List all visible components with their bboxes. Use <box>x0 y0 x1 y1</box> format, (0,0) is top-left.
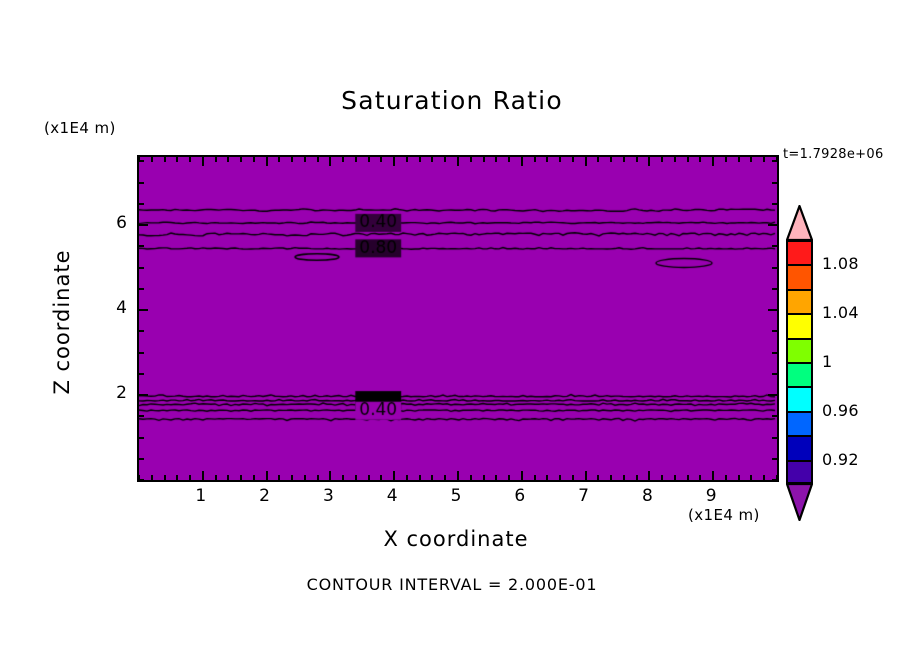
x-tick <box>380 475 382 480</box>
x-tick <box>266 471 268 480</box>
x-tick <box>585 471 587 480</box>
time-annotation: t=1.7928e+06 <box>783 147 884 162</box>
x-tick <box>215 475 217 480</box>
y-axis-unit-label: (x1E4 m) <box>44 119 116 137</box>
x-tick <box>750 475 752 480</box>
x-tick <box>317 157 319 162</box>
x-tick <box>495 475 497 480</box>
x-tick-label: 9 <box>691 486 731 506</box>
y-tick <box>139 224 148 226</box>
x-tick <box>253 475 255 480</box>
x-tick <box>329 157 331 166</box>
x-tick <box>610 475 612 480</box>
x-tick <box>572 475 574 480</box>
x-tick <box>687 475 689 480</box>
x-tick <box>738 157 740 162</box>
y-tick <box>139 479 144 481</box>
x-tick <box>355 157 357 162</box>
x-axis-title: X coordinate <box>137 527 775 551</box>
x-tick-label: 8 <box>627 486 667 506</box>
x-tick <box>712 157 714 166</box>
page-title: Saturation Ratio <box>0 86 904 115</box>
y-tick <box>139 203 144 205</box>
x-tick <box>546 157 548 162</box>
colorbar-under-arrow-icon <box>786 483 813 521</box>
y-tick-label: 2 <box>97 383 127 403</box>
y-tick <box>772 458 777 460</box>
x-tick <box>215 157 217 162</box>
colorbar-band <box>788 437 811 461</box>
x-tick <box>227 475 229 480</box>
y-tick <box>772 245 777 247</box>
x-tick-label: 7 <box>564 486 604 506</box>
y-tick <box>772 160 777 162</box>
contour-plot-figure: Saturation Ratio (x1E4 m) t=1.7928e+06 1… <box>0 0 904 654</box>
y-tick <box>139 415 144 417</box>
x-tick-label: 1 <box>181 486 221 506</box>
x-tick <box>699 475 701 480</box>
x-tick <box>470 475 472 480</box>
x-tick <box>227 157 229 162</box>
x-tick <box>712 471 714 480</box>
x-tick <box>291 157 293 162</box>
x-tick <box>431 475 433 480</box>
x-tick-label: 4 <box>372 486 412 506</box>
x-tick <box>291 475 293 480</box>
y-tick-label: 4 <box>97 298 127 318</box>
y-tick <box>139 458 144 460</box>
x-tick <box>483 157 485 162</box>
x-tick <box>521 471 523 480</box>
x-tick <box>329 471 331 480</box>
contour-field-canvas <box>139 157 777 480</box>
x-tick <box>278 475 280 480</box>
x-tick <box>470 157 472 162</box>
y-tick <box>768 394 777 396</box>
x-tick-label: 3 <box>308 486 348 506</box>
colorbar-label: 1.08 <box>822 254 859 273</box>
y-tick <box>139 373 144 375</box>
x-tick <box>406 475 408 480</box>
x-tick <box>661 475 663 480</box>
x-tick <box>317 475 319 480</box>
x-tick <box>202 471 204 480</box>
colorbar: 1.081.0410.960.92 <box>781 205 901 521</box>
y-tick <box>139 267 144 269</box>
y-tick-label: 6 <box>97 213 127 233</box>
x-tick-label: 5 <box>436 486 476 506</box>
colorbar-band <box>788 315 811 339</box>
colorbar-band <box>788 413 811 437</box>
x-tick <box>151 157 153 162</box>
x-tick <box>623 475 625 480</box>
x-tick <box>164 157 166 162</box>
x-tick <box>648 157 650 166</box>
x-tick <box>725 475 727 480</box>
colorbar-band <box>788 364 811 388</box>
x-tick <box>534 475 536 480</box>
x-tick <box>419 475 421 480</box>
x-tick <box>253 157 255 162</box>
x-tick <box>240 475 242 480</box>
x-tick <box>674 157 676 162</box>
x-tick <box>393 157 395 166</box>
x-tick <box>559 157 561 162</box>
x-tick <box>572 157 574 162</box>
x-tick <box>508 157 510 162</box>
y-tick <box>139 309 148 311</box>
y-tick <box>772 437 777 439</box>
x-tick <box>750 157 752 162</box>
x-tick <box>393 471 395 480</box>
x-tick <box>457 471 459 480</box>
x-tick <box>636 157 638 162</box>
x-tick <box>368 475 370 480</box>
x-tick <box>597 157 599 162</box>
x-tick <box>559 475 561 480</box>
x-tick <box>278 157 280 162</box>
x-tick <box>419 157 421 162</box>
y-tick <box>139 330 144 332</box>
y-axis-title: Z coordinate <box>50 222 74 422</box>
x-tick <box>342 475 344 480</box>
x-tick <box>355 475 357 480</box>
colorbar-label: 0.92 <box>822 450 859 469</box>
x-tick <box>189 475 191 480</box>
y-tick <box>772 203 777 205</box>
x-tick <box>585 157 587 166</box>
x-tick <box>546 475 548 480</box>
y-tick <box>139 288 144 290</box>
x-tick <box>380 157 382 162</box>
x-tick <box>687 157 689 162</box>
y-tick <box>772 182 777 184</box>
x-tick <box>189 157 191 162</box>
x-tick <box>431 157 433 162</box>
x-tick <box>342 157 344 162</box>
x-tick <box>763 475 765 480</box>
y-tick <box>139 182 144 184</box>
x-tick <box>444 157 446 162</box>
x-tick <box>534 157 536 162</box>
x-axis-unit-label: (x1E4 m) <box>688 506 760 524</box>
colorbar-label: 1.04 <box>822 303 859 322</box>
y-tick <box>139 245 144 247</box>
colorbar-bands <box>786 240 813 484</box>
colorbar-label: 1 <box>822 352 832 371</box>
y-tick <box>139 437 144 439</box>
y-tick <box>772 415 777 417</box>
colorbar-band <box>788 462 811 484</box>
x-tick <box>164 475 166 480</box>
x-tick <box>444 475 446 480</box>
x-tick <box>202 157 204 166</box>
x-tick <box>406 157 408 162</box>
x-tick <box>763 157 765 162</box>
colorbar-band <box>788 291 811 315</box>
x-tick-label: 6 <box>500 486 540 506</box>
x-tick <box>304 157 306 162</box>
y-tick <box>772 352 777 354</box>
colorbar-band <box>788 242 811 266</box>
x-tick <box>457 157 459 166</box>
x-tick-label: 2 <box>245 486 285 506</box>
y-tick <box>772 267 777 269</box>
colorbar-label: 0.96 <box>822 401 859 420</box>
y-tick <box>139 352 144 354</box>
x-tick <box>176 157 178 162</box>
y-tick <box>139 160 144 162</box>
y-tick <box>768 224 777 226</box>
x-tick <box>636 475 638 480</box>
y-tick <box>772 479 777 481</box>
x-tick <box>508 475 510 480</box>
colorbar-band <box>788 388 811 412</box>
x-tick <box>176 475 178 480</box>
plot-area <box>137 155 779 482</box>
colorbar-over-arrow-icon <box>786 205 813 241</box>
y-tick <box>139 394 148 396</box>
y-tick <box>772 330 777 332</box>
x-tick <box>623 157 625 162</box>
contour-interval-caption: CONTOUR INTERVAL = 2.000E-01 <box>0 575 904 594</box>
x-tick <box>521 157 523 166</box>
x-tick <box>738 475 740 480</box>
y-tick <box>772 373 777 375</box>
y-tick <box>772 288 777 290</box>
x-tick <box>368 157 370 162</box>
colorbar-band <box>788 340 811 364</box>
x-tick <box>648 471 650 480</box>
x-tick <box>495 157 497 162</box>
x-tick <box>674 475 676 480</box>
x-tick <box>483 475 485 480</box>
x-tick <box>610 157 612 162</box>
x-tick <box>725 157 727 162</box>
y-tick <box>768 309 777 311</box>
x-tick <box>304 475 306 480</box>
x-tick <box>661 157 663 162</box>
x-tick <box>699 157 701 162</box>
x-tick <box>266 157 268 166</box>
colorbar-band <box>788 266 811 290</box>
x-tick <box>240 157 242 162</box>
x-tick <box>151 475 153 480</box>
x-tick <box>597 475 599 480</box>
